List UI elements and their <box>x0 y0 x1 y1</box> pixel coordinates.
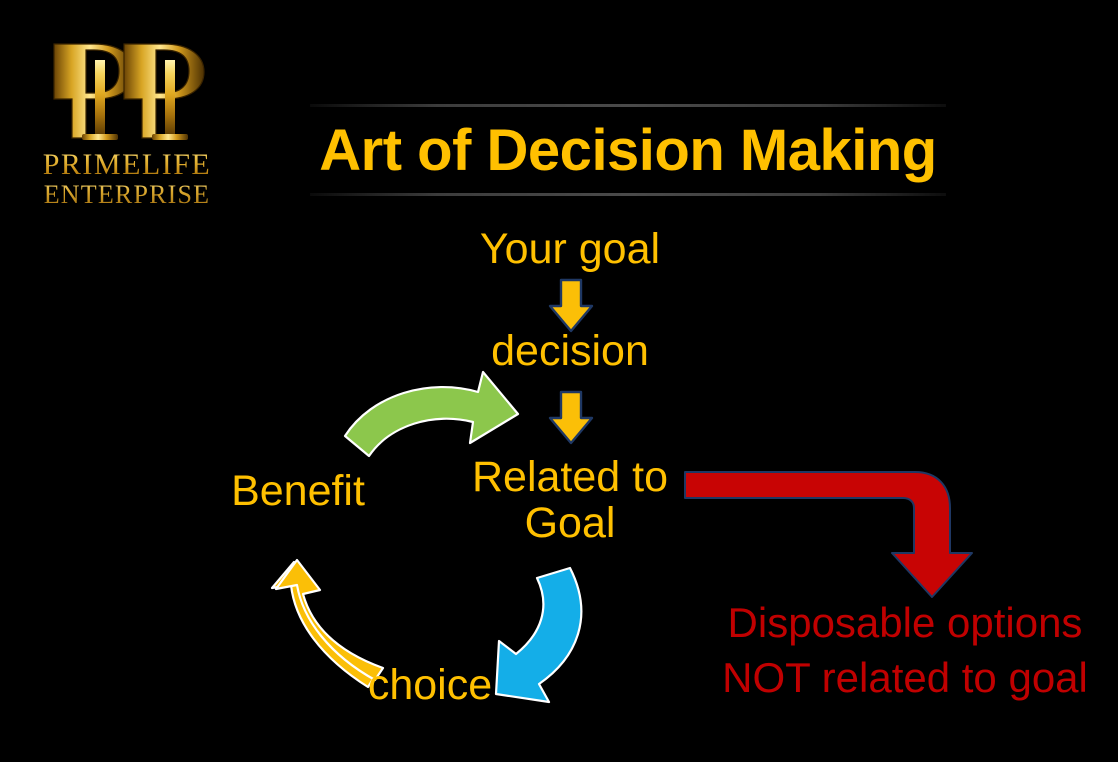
flow-node-your-goal: Your goal <box>430 226 710 272</box>
arrow-goal-to-decision-icon <box>550 280 592 331</box>
arrow-decision-to-related-icon <box>550 392 592 443</box>
flow-node-choice: choice <box>310 662 550 708</box>
flow-node-disposable-options: Disposable options NOT related to goal <box>700 595 1110 705</box>
slide-canvas: PRIMELIFE ENTERPRISE Art of Decision Mak… <box>0 0 1118 762</box>
flow-node-decision: decision <box>430 328 710 374</box>
flow-node-related-to-goal: Related to Goal <box>430 454 710 546</box>
arrow-related-to-disposable-icon <box>685 472 972 597</box>
flow-node-benefit: Benefit <box>178 468 418 514</box>
arrow-benefit-to-related-icon <box>345 372 518 456</box>
